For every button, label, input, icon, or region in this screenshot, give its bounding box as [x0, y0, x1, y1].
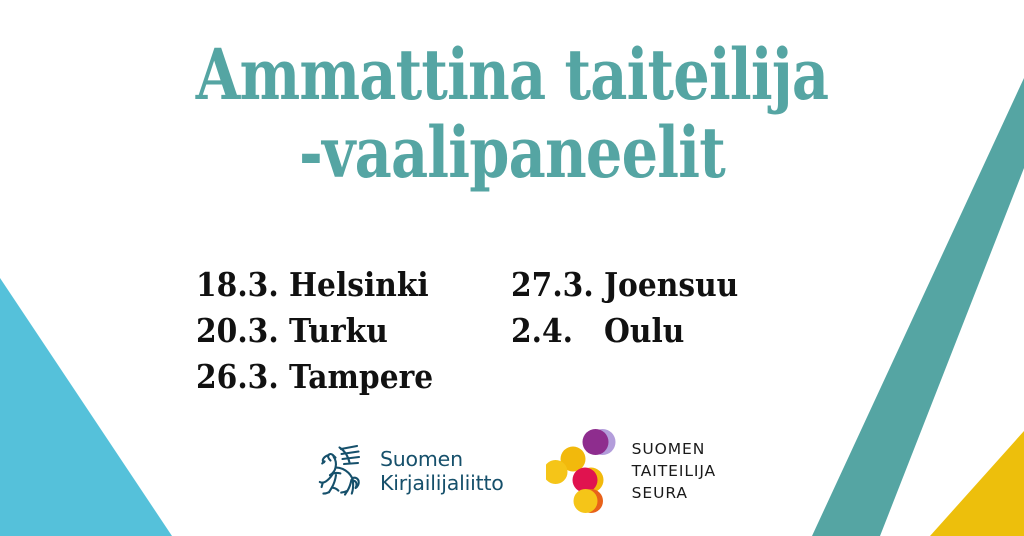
logo-suomen-taiteilijaseura: SUOMEN TAITEILIJA SEURA: [546, 428, 716, 514]
event-date: 18.3.: [196, 262, 280, 308]
event-city: Oulu: [604, 308, 684, 354]
title-line-2: -vaalipaneelit: [92, 114, 932, 192]
event-city: Turku: [289, 308, 388, 354]
logo-row: Suomen Kirjailijaliitto: [0, 428, 1024, 514]
logo-taiteilijaseura-text: SUOMEN TAITEILIJA SEURA: [632, 438, 716, 504]
list-item: 20.3. Turku: [196, 308, 511, 354]
event-date: 27.3.: [511, 262, 595, 308]
pegasus-icon: [308, 440, 370, 502]
poster-canvas: Ammattina taiteilija -vaalipaneelit 18.3…: [0, 0, 1024, 536]
list-item: 2.4. Oulu: [511, 308, 753, 354]
event-date: 2.4.: [511, 308, 595, 354]
date-column-left: 18.3. Helsinki 20.3. Turku 26.3. Tampere: [196, 262, 511, 400]
event-date-list: 18.3. Helsinki 20.3. Turku 26.3. Tampere…: [196, 262, 753, 400]
event-city: Joensuu: [604, 262, 738, 308]
date-column-right: 27.3. Joensuu 2.4. Oulu: [511, 262, 753, 400]
logo-kirjailijaliitto-line-1: Suomen: [380, 447, 504, 471]
page-title: Ammattina taiteilija -vaalipaneelit: [0, 36, 1024, 193]
event-date: 20.3.: [196, 308, 280, 354]
logo-taiteilijaseura-line-1: SUOMEN: [632, 438, 716, 460]
event-date: 26.3.: [196, 354, 280, 400]
logo-taiteilijaseura-line-3: SEURA: [632, 482, 716, 504]
list-item: 26.3. Tampere: [196, 354, 511, 400]
logo-taiteilijaseura-line-2: TAITEILIJA: [632, 460, 716, 482]
list-item: 27.3. Joensuu: [511, 262, 753, 308]
colored-dots-mark-icon: [546, 428, 624, 514]
event-city: Helsinki: [289, 262, 429, 308]
logo-kirjailijaliitto-text: Suomen Kirjailijaliitto: [380, 447, 504, 495]
logo-suomen-kirjailijaliitto: Suomen Kirjailijaliitto: [308, 440, 504, 502]
event-city: Tampere: [289, 354, 433, 400]
title-line-1: Ammattina taiteilija: [92, 36, 932, 114]
list-item: 18.3. Helsinki: [196, 262, 511, 308]
logo-kirjailijaliitto-line-2: Kirjailijaliitto: [380, 471, 504, 495]
